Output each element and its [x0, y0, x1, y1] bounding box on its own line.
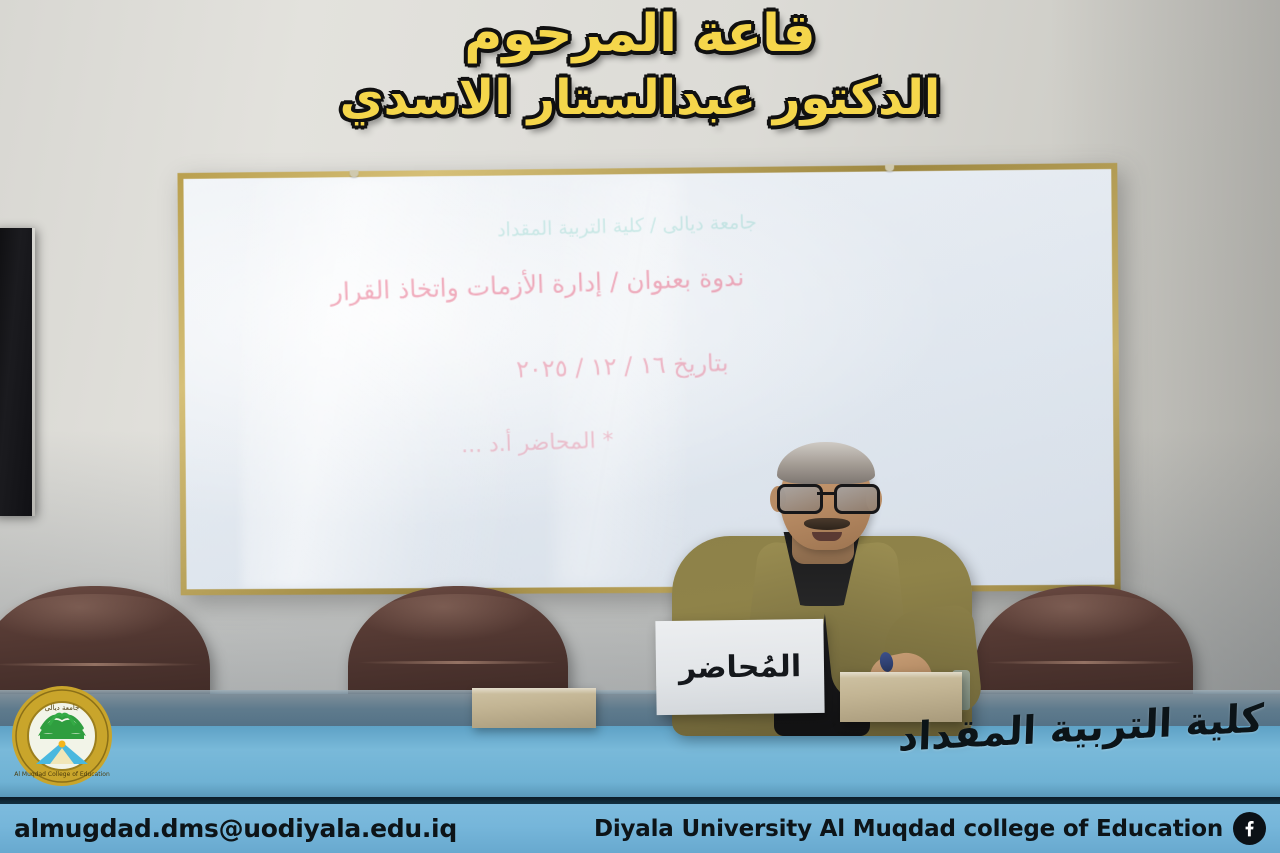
svg-text:Al Muqdad College of Education: Al Muqdad College of Education: [14, 771, 110, 778]
seal-icon: جامعة ديالى Al Muqdad College of Educati…: [10, 684, 114, 788]
person-mustache: [804, 518, 850, 530]
footer-bar: almugdad.dms@uodiyala.edu.iq Diyala Univ…: [0, 804, 1280, 853]
whiteboard-glare: [238, 175, 518, 589]
table-box-left: [472, 688, 596, 728]
glasses-lens-left: [777, 484, 823, 514]
hall-title-line-1: قاعة المرحوم: [0, 8, 1280, 60]
glasses-bridge: [817, 492, 834, 495]
photo-canvas: قاعة المرحوم الدكتور عبدالستار الاسدي جا…: [0, 0, 1280, 853]
whiteboard-line-1: جامعة ديالى / كلية التربية المقداد: [496, 211, 756, 241]
hall-title-overlay: قاعة المرحوم الدكتور عبدالستار الاسدي: [0, 8, 1280, 122]
person-mouth: [812, 532, 842, 541]
person-glasses: [777, 484, 877, 508]
glasses-lens-right: [834, 484, 880, 514]
university-seal-logo: جامعة ديالى Al Muqdad College of Educati…: [10, 684, 114, 788]
whiteboard-mount-right: [885, 164, 894, 171]
whiteboard-mount-left: [350, 170, 359, 177]
svg-text:جامعة ديالى: جامعة ديالى: [45, 704, 80, 712]
person-hair: [777, 442, 875, 484]
whiteboard-line-3: بتاريخ ١٦ / ١٢ / ٢٠٢٥: [516, 348, 729, 383]
hall-title-line-2: الدكتور عبدالستار الاسدي: [0, 74, 1280, 122]
whiteboard-line-4: * المحاضر أ.د ...: [461, 428, 614, 458]
facebook-icon[interactable]: [1233, 812, 1266, 845]
footer-divider: [0, 797, 1280, 804]
footer-email: almugdad.dms@uodiyala.edu.iq: [14, 814, 457, 843]
footer-right-group: Diyala University Al Muqdad college of E…: [594, 812, 1266, 845]
footer-institution: Diyala University Al Muqdad college of E…: [594, 816, 1223, 842]
lecturer-nameplate: المُحاضر: [655, 619, 824, 715]
nameplate-text: المُحاضر: [679, 649, 802, 686]
wall-mounted-display: [0, 228, 34, 516]
